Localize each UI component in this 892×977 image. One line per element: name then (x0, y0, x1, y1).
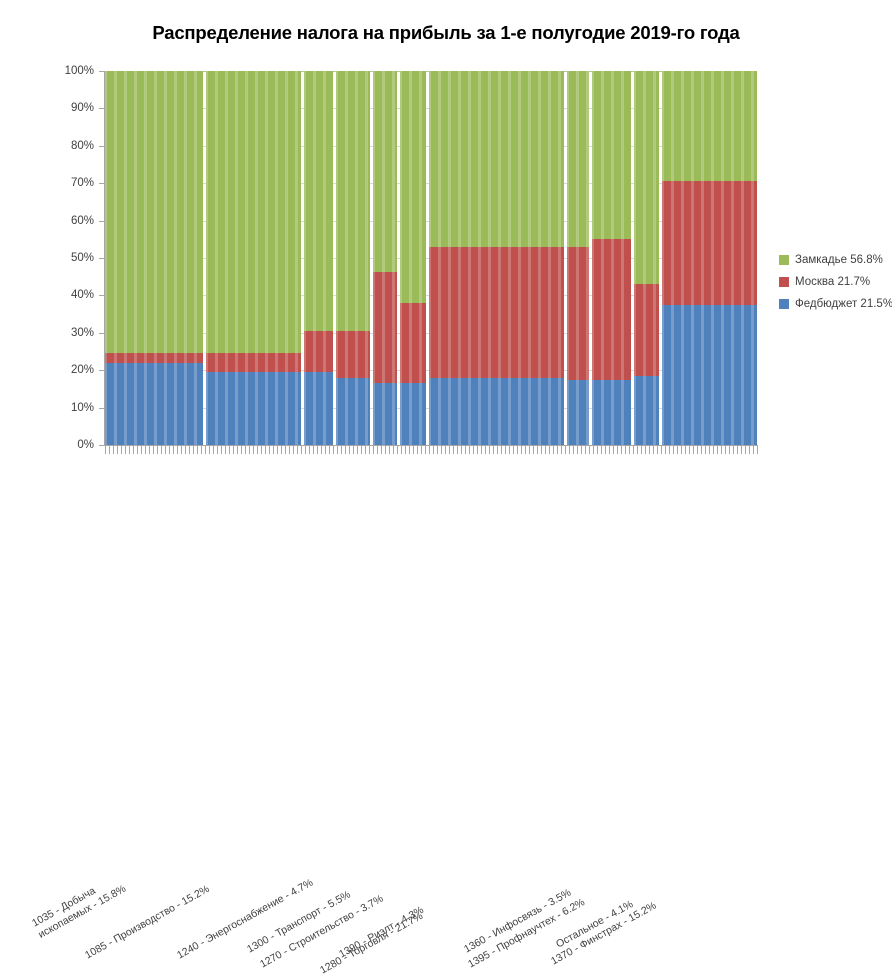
legend-item[interactable]: Федбюджет 21.5% (779, 293, 892, 315)
bar-segment[interactable] (634, 71, 660, 284)
bar-column[interactable] (567, 71, 589, 445)
y-axis-tick-label: 60% (71, 216, 94, 226)
bar-segment[interactable] (373, 272, 396, 383)
bar-column[interactable] (592, 71, 631, 445)
legend-item-label: Москва 21.7% (795, 276, 870, 288)
bar-series-group (105, 71, 757, 445)
y-axis-tick-label: 70% (71, 178, 94, 188)
bar-column[interactable] (206, 71, 301, 445)
bar-segment[interactable] (429, 378, 564, 445)
y-axis-tick-label: 40% (71, 290, 94, 300)
bar-segment[interactable] (304, 372, 333, 445)
bar-segment[interactable] (634, 376, 660, 445)
legend-swatch-icon (779, 277, 789, 287)
y-axis-tick-label: 80% (71, 141, 94, 151)
legend-item-label: Замкадье 56.8% (795, 254, 883, 266)
bar-segment[interactable] (400, 71, 427, 303)
bar-segment[interactable] (206, 71, 301, 353)
bar-column[interactable] (105, 71, 203, 445)
y-axis-tick-label: 30% (71, 328, 94, 338)
bar-segment[interactable] (373, 383, 396, 445)
bar-segment[interactable] (567, 247, 589, 380)
bar-segment[interactable] (304, 71, 333, 331)
chart-legend: Замкадье 56.8%Москва 21.7%Федбюджет 21.5… (779, 249, 892, 315)
bar-segment[interactable] (304, 331, 333, 372)
x-axis-label: 1035 - Добычаископаемых - 15.8% (30, 871, 128, 940)
bar-column[interactable] (373, 71, 396, 445)
legend-swatch-icon (779, 299, 789, 309)
legend-swatch-icon (779, 255, 789, 265)
bar-column[interactable] (400, 71, 427, 445)
bar-segment[interactable] (206, 353, 301, 372)
bar-segment[interactable] (634, 284, 660, 376)
bar-segment[interactable] (105, 363, 203, 445)
bar-segment[interactable] (105, 71, 203, 353)
y-axis-tick-label: 10% (71, 403, 94, 413)
chart-container: Распределение налога на прибыль за 1-е п… (0, 0, 892, 551)
bar-segment[interactable] (662, 181, 757, 305)
bar-segment[interactable] (592, 239, 631, 380)
bar-segment[interactable] (592, 380, 631, 445)
legend-item[interactable]: Москва 21.7% (779, 271, 892, 293)
x-axis-labels: 1035 - Добычаископаемых - 15.8%1085 - Пр… (0, 445, 892, 551)
bar-column[interactable] (634, 71, 660, 445)
bar-column[interactable] (429, 71, 564, 445)
bar-segment[interactable] (373, 71, 396, 272)
bar-segment[interactable] (206, 372, 301, 445)
bar-segment[interactable] (567, 71, 589, 247)
legend-item[interactable]: Замкадье 56.8% (779, 249, 892, 271)
y-axis-tick-label: 20% (71, 365, 94, 375)
bar-segment[interactable] (336, 331, 370, 378)
bar-segment[interactable] (105, 353, 203, 362)
plot-area (105, 71, 757, 445)
bar-column[interactable] (662, 71, 757, 445)
y-axis-tick-label: 90% (71, 103, 94, 113)
bar-segment[interactable] (336, 378, 370, 445)
chart-title: Распределение налога на прибыль за 1-е п… (0, 22, 892, 44)
y-axis: 0%10%20%30%40%50%60%70%80%90%100% (0, 71, 105, 445)
bar-column[interactable] (336, 71, 370, 445)
bar-segment[interactable] (400, 383, 427, 445)
bar-segment[interactable] (567, 380, 589, 445)
bar-segment[interactable] (662, 305, 757, 445)
bar-segment[interactable] (592, 71, 631, 239)
bar-segment[interactable] (400, 303, 427, 383)
bar-segment[interactable] (429, 247, 564, 378)
y-axis-tick-label: 50% (71, 253, 94, 263)
bar-segment[interactable] (662, 71, 757, 181)
y-axis-tick-label: 100% (65, 66, 94, 76)
legend-item-label: Федбюджет 21.5% (795, 298, 892, 310)
bar-column[interactable] (304, 71, 333, 445)
bar-segment[interactable] (336, 71, 370, 331)
bar-segment[interactable] (429, 71, 564, 247)
